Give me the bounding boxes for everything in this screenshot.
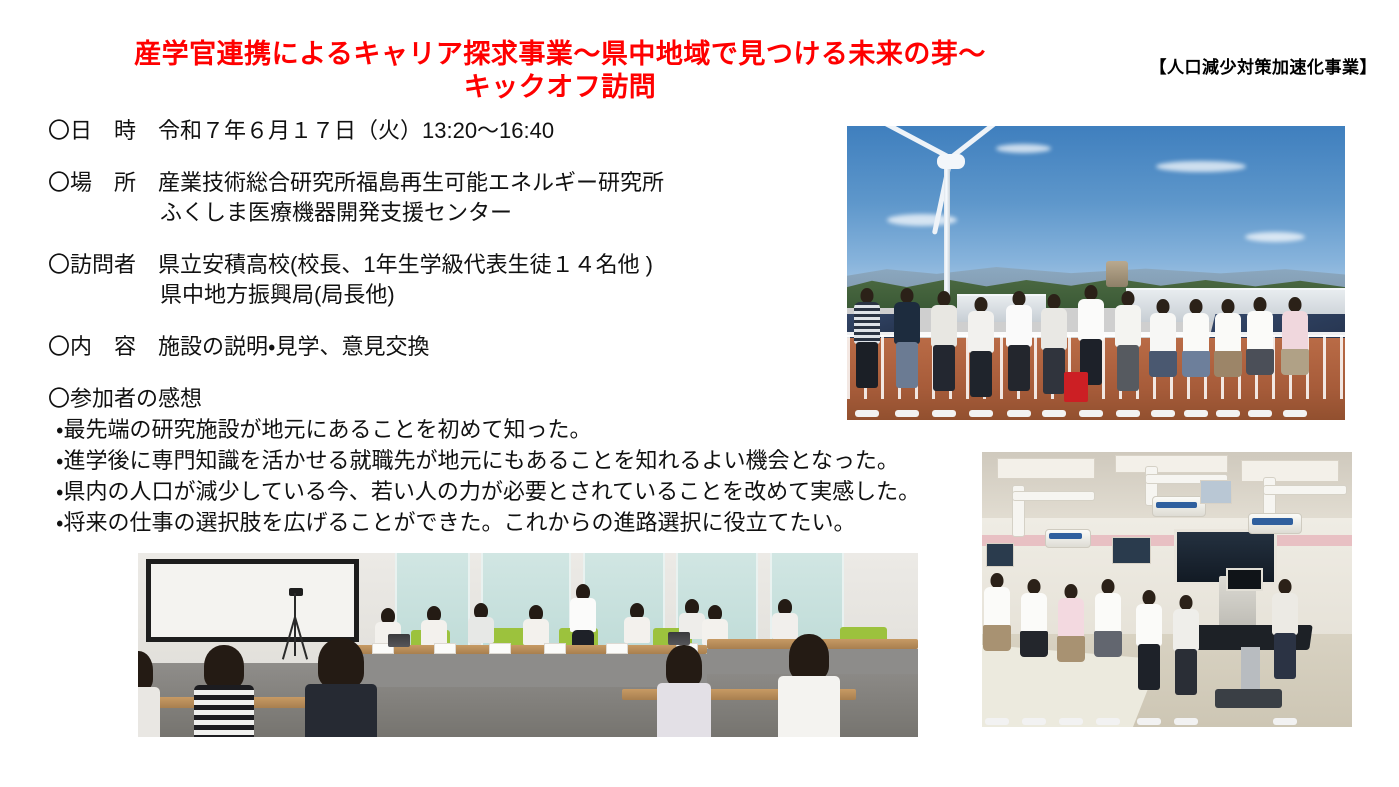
impression-item: ・進学後に専門知識を活かせる就職先が地元にもあることを知れるよい機会となった。: [48, 445, 998, 476]
red-tote-bag: [1064, 372, 1088, 402]
cloud: [1245, 232, 1305, 242]
impression-item: ・将来の仕事の選択肢を広げることができた。これからの進路選択に役立てたい。: [48, 507, 998, 538]
impression-item: ・県内の人口が減少している今、若い人の力が必要とされていることを改めて実感した。: [48, 476, 998, 507]
surgical-light-band: [1049, 533, 1082, 539]
page-title-line-2: キックオフ訪問: [0, 71, 1120, 104]
laptop: [668, 632, 690, 645]
endoscopy-monitor: [1226, 568, 1263, 591]
ceiling-panel: [997, 458, 1095, 479]
surgical-light-band: [1252, 518, 1293, 525]
equipment-display: [1200, 480, 1232, 504]
ceiling-panel: [1241, 460, 1339, 481]
wall-monitor: [986, 543, 1014, 567]
program-badge: 【人口減少対策加速化事業】: [1150, 53, 1378, 78]
turbine-tower: [944, 158, 950, 299]
surgical-light-arm: [1263, 485, 1346, 495]
surgical-light-arm: [1012, 491, 1095, 501]
cloud: [996, 144, 1051, 153]
meeting-exchange-photo: [138, 553, 918, 737]
operating-table-base: [1215, 689, 1282, 708]
camera-tripod: [294, 593, 296, 656]
operating-table-column: [1241, 647, 1260, 691]
wall-monitor: [1112, 537, 1151, 564]
ceiling-panel: [1115, 455, 1228, 474]
photo-scene: [847, 126, 1345, 420]
page-title: 産学官連携によるキャリア探求事業〜県中地域で見つける未来の芽〜 キックオフ訪問: [0, 38, 1120, 104]
name-plate: [489, 643, 511, 654]
page-title-line-1: 産学官連携によるキャリア探求事業〜県中地域で見つける未来の芽〜: [0, 38, 1120, 71]
operating-room-tour-photo: [982, 452, 1352, 727]
outdoor-group-photo-wind-turbine: [847, 126, 1345, 420]
name-plate: [434, 643, 456, 654]
laptop: [388, 634, 410, 647]
projector-screen: [146, 559, 359, 643]
storage-tank: [1106, 261, 1128, 287]
name-plate: [606, 643, 628, 654]
turbine-nacelle: [937, 154, 965, 169]
surgical-light-band: [1156, 502, 1197, 509]
photo-scene: [138, 553, 918, 737]
photo-scene: [982, 452, 1352, 727]
wall-accent-band: [982, 535, 1352, 546]
table-panel: [349, 654, 708, 687]
name-plate: [544, 643, 566, 654]
